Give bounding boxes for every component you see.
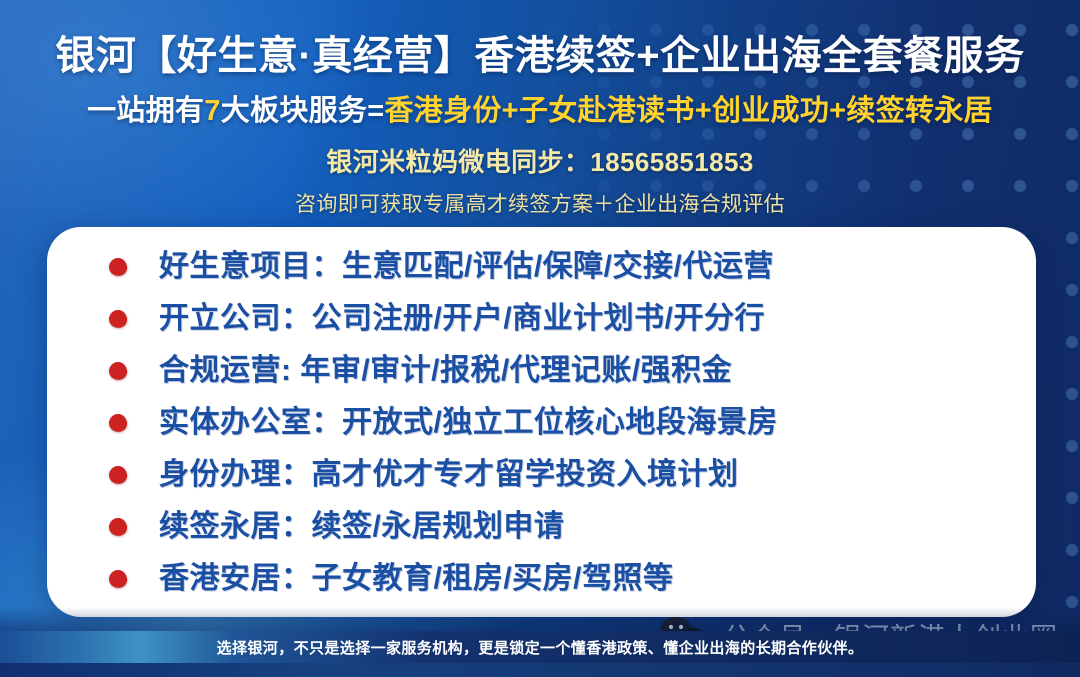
list-item: 好生意项目：生意匹配/评估/保障/交接/代运营 — [47, 241, 1036, 293]
list-item: 香港安居：子女教育/租房/买房/驾照等 — [47, 553, 1036, 605]
services-list: 好生意项目：生意匹配/评估/保障/交接/代运营 开立公司：公司注册/开户/商业计… — [47, 241, 1036, 605]
tagline: 咨询即可获取专属高才续签方案＋企业出海合规评估 — [0, 188, 1080, 218]
list-item: 实体办公室：开放式/独立工位核心地段海景房 — [47, 397, 1036, 449]
list-item: 合规运营: 年审/审计/报税/代理记账/强积金 — [47, 345, 1036, 397]
bullet-dot-icon — [107, 360, 128, 381]
footer-strip: 选择银河，不只是选择一家服务机构，更是锁定一个懂香港政策、懂企业出海的长期合作伙… — [0, 631, 1080, 663]
bullet-dot-icon — [107, 308, 128, 329]
list-item-label: 好生意项目：生意匹配/评估/保障/交接/代运营 — [159, 252, 774, 282]
list-item: 续签永居：续签/永居规划申请 — [47, 501, 1036, 553]
bullet-dot-icon — [107, 256, 128, 277]
list-item-label: 香港安居：子女教育/租房/买房/驾照等 — [159, 564, 674, 594]
subheadline-number: 7 — [204, 95, 220, 127]
contact-phone-line: 银河米粒妈微电同步：18565851853 — [0, 142, 1080, 179]
list-item: 身份办理：高才优才专才留学投资入境计划 — [47, 449, 1036, 501]
list-item-label: 实体办公室：开放式/独立工位核心地段海景房 — [159, 408, 778, 438]
subheadline-prefix: 一站拥有 — [87, 95, 204, 127]
headline-title: 银河【好生意·真经营】香港续签+企业出海全套餐服务 — [0, 34, 1080, 79]
bullet-dot-icon — [107, 464, 128, 485]
poster-header: 银河【好生意·真经营】香港续签+企业出海全套餐服务 一站拥有7大板块服务=香港身… — [0, 0, 1080, 218]
footer-strip-text: 选择银河，不只是选择一家服务机构，更是锁定一个懂香港政策、懂企业出海的长期合作伙… — [217, 637, 864, 658]
list-item-label: 合规运营: 年审/审计/报税/代理记账/强积金 — [159, 356, 732, 386]
subheadline-middle: 大板块服务= — [221, 95, 385, 127]
list-item-label: 续签永居：续签/永居规划申请 — [159, 512, 564, 542]
bottom-band-decoration — [0, 663, 1080, 677]
bullet-dot-icon — [107, 412, 128, 433]
bullet-dot-icon — [107, 516, 128, 537]
services-card: 好生意项目：生意匹配/评估/保障/交接/代运营 开立公司：公司注册/开户/商业计… — [47, 227, 1036, 617]
list-item-label: 开立公司：公司注册/开户/商业计划书/开分行 — [159, 304, 765, 334]
bullet-dot-icon — [107, 568, 128, 589]
subheadline-highlight: 香港身份+子女赴港读书+创业成功+续签转永居 — [384, 95, 992, 127]
list-item: 开立公司：公司注册/开户/商业计划书/开分行 — [47, 293, 1036, 345]
list-item-label: 身份办理：高才优才专才留学投资入境计划 — [159, 460, 739, 490]
promotional-poster: 银河【好生意·真经营】香港续签+企业出海全套餐服务 一站拥有7大板块服务=香港身… — [0, 0, 1080, 677]
subheadline: 一站拥有7大板块服务=香港身份+子女赴港读书+创业成功+续签转永居 — [0, 87, 1080, 129]
